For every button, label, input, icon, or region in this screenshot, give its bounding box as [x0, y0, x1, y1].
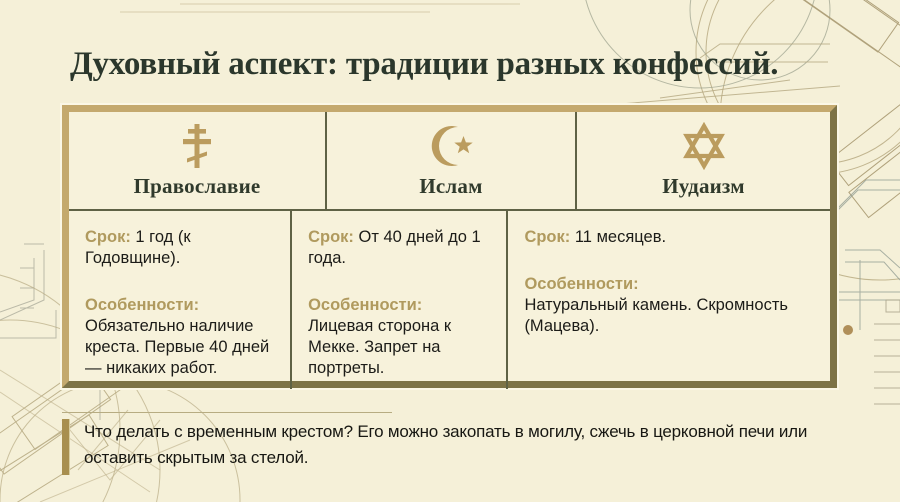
footer-accent-bar [62, 419, 70, 475]
detail-label: Срок: [308, 228, 354, 246]
table-cell-islam: Срок: От 40 дней до 1 года. Особенности:… [290, 211, 508, 389]
crescent-star-icon [428, 122, 474, 170]
table-cell-orthodoxy: Срок: 1 год (к Годовщине). Особенности: … [69, 211, 290, 389]
star-of-david-icon [680, 122, 728, 170]
detail-label: Особенности: [524, 274, 814, 295]
table-header-label-orthodoxy: Православие [134, 174, 261, 199]
table-header-label-judaism: Иудаизм [662, 174, 745, 199]
detail-features-orthodoxy: Особенности: Обязательно наличие креста.… [85, 295, 274, 379]
detail-label: Особенности: [308, 296, 422, 314]
table-body-row: Срок: 1 год (к Годовщине). Особенности: … [69, 211, 830, 389]
orthodox-cross-icon [180, 122, 214, 170]
table-header-cell-islam: Ислам [325, 112, 577, 209]
detail-value: Натуральный камень. Скромность (Мацева). [524, 295, 814, 337]
detail-term-judaism: Срок: 11 месяцев. [524, 227, 814, 248]
page-title: Духовный аспект: традиции разных конфесс… [70, 44, 860, 84]
comparison-table: Православие Ислам [62, 105, 837, 388]
detail-term-islam: Срок: От 40 дней до 1 года. [308, 227, 490, 269]
footer-note-text: Что делать с временным крестом? Его можн… [84, 412, 864, 471]
detail-label: Особенности: [85, 296, 199, 314]
detail-value: 11 месяцев. [570, 228, 666, 246]
detail-value: Обязательно наличие креста. Первые 40 дн… [85, 317, 269, 377]
slide-canvas: Духовный аспект: традиции разных конфесс… [0, 0, 900, 502]
table-header-cell-judaism: Иудаизм [577, 112, 830, 209]
footer-note: Что делать с временным крестом? Его можн… [62, 412, 852, 471]
detail-features-judaism: Особенности:Натуральный камень. Скромнос… [524, 274, 814, 337]
detail-label: Срок: [524, 228, 570, 246]
detail-value: Лицевая сторона к Мекке. Запрет на портр… [308, 317, 451, 377]
detail-label: Срок: [85, 228, 131, 246]
detail-features-islam: Особенности: Лицевая сторона к Мекке. За… [308, 295, 490, 379]
detail-term-orthodoxy: Срок: 1 год (к Годовщине). [85, 227, 274, 269]
table-header-row: Православие Ислам [69, 112, 830, 211]
table-header-cell-orthodoxy: Православие [69, 112, 325, 209]
footer-top-rule [62, 412, 392, 413]
table-cell-judaism: Срок: 11 месяцев. Особенности:Натуральны… [508, 211, 830, 389]
table-header-label-islam: Ислам [419, 174, 482, 199]
